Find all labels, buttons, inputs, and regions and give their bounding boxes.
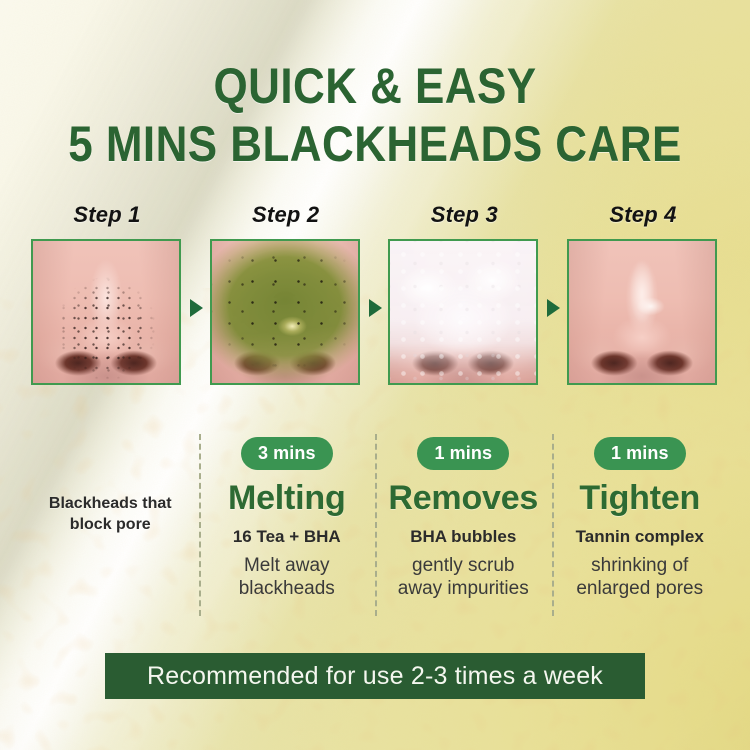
benefit-title: Removes [388,481,538,515]
blackhead-dots [33,241,179,383]
infographic-poster: QUICK & EASY 5 MINS BLACKHEADS CARE Step… [0,0,750,750]
mask-herb-specks [212,241,358,383]
benefit-description: shrinking ofenlarged pores [576,554,703,600]
step-1-photo [31,239,181,385]
step-arrow-2 [362,235,389,381]
page-title: QUICK & EASY 5 MINS BLACKHEADS CARE [0,61,750,170]
duration-badge: 1 mins [594,437,686,470]
duration-badge: 1 mins [417,437,509,470]
step-arrow-3 [540,235,567,381]
step-4: Step 4 [567,202,719,385]
step-1: Step 1 [31,202,183,385]
benefit-subtitle: 16 Tea + BHA [233,528,341,545]
benefit-column-problem: Blackheads thatblock pore [22,432,199,622]
benefit-description: gently scrubaway impurities [398,554,529,600]
duration-badge: 3 mins [241,437,333,470]
benefit-subtitle: Tannin complex [576,528,704,545]
step-2-photo [210,239,360,385]
step-3-photo [388,239,538,385]
benefit-title: Tighten [579,481,700,515]
steps-strip: Step 1 Step 2 Step 3 [31,202,719,385]
foam-bubble-dots [390,241,536,383]
step-arrow-1 [183,235,210,381]
clean-skin-highlight [569,241,715,383]
recommendation-banner: Recommended for use 2-3 times a week [105,653,645,699]
benefit-title: Melting [228,481,346,515]
headline-line-1: QUICK & EASY [45,61,705,113]
benefits-row: Blackheads thatblock pore 3 mins Melting… [22,432,728,622]
arrow-right-icon [547,299,560,317]
headline-line-2: 5 MINS BLACKHEADS CARE [45,119,705,171]
benefit-column-tighten: 1 mins Tighten Tannin complex shrinking … [552,432,729,622]
step-4-label: Step 4 [567,202,719,228]
step-1-label: Step 1 [31,202,183,228]
benefit-column-melting: 3 mins Melting 16 Tea + BHA Melt awaybla… [199,432,376,622]
arrow-right-icon [369,299,382,317]
arrow-right-icon [190,299,203,317]
problem-text: Blackheads thatblock pore [49,493,172,561]
benefit-description: Melt awayblackheads [239,554,335,600]
benefit-column-removes: 1 mins Removes BHA bubbles gently scruba… [375,432,552,622]
step-3-label: Step 3 [388,202,540,228]
step-3: Step 3 [388,202,540,385]
step-2-label: Step 2 [210,202,362,228]
step-2: Step 2 [210,202,362,385]
benefit-subtitle: BHA bubbles [410,528,516,545]
step-4-photo [567,239,717,385]
recommendation-text: Recommended for use 2-3 times a week [147,662,603,691]
